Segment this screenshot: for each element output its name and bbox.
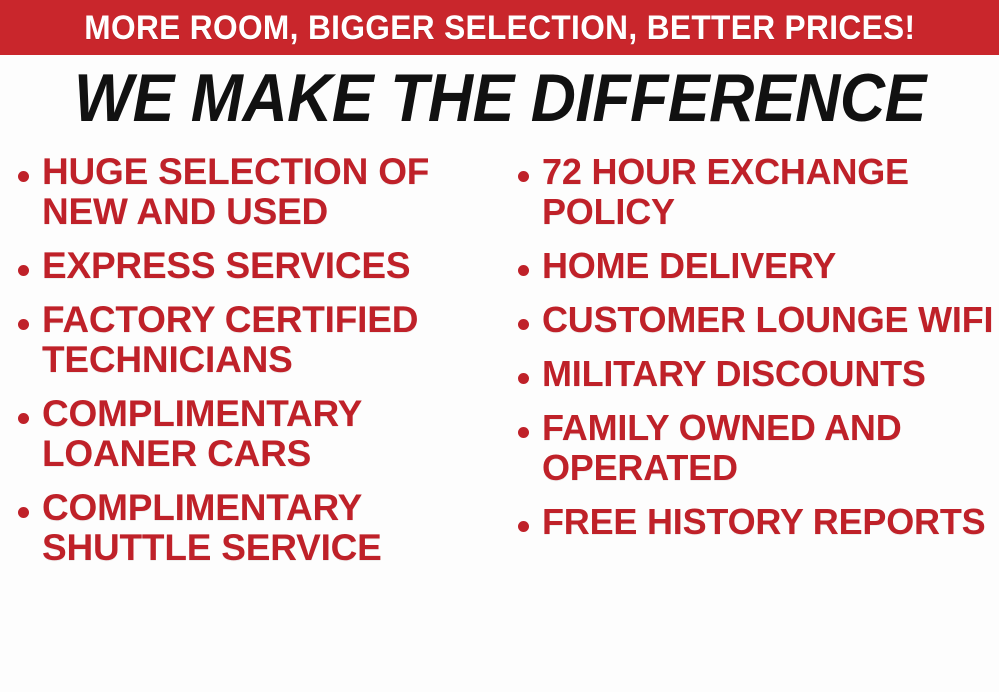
list-item-label: FACTORY CERTIFIED TECHNICIANS <box>42 300 500 380</box>
bullet-dot-icon <box>518 427 529 438</box>
bullet-dot-icon <box>518 319 529 330</box>
bullet-dot-icon <box>518 373 529 384</box>
bullet-dot-icon <box>18 265 29 276</box>
list-item: COMPLIMENTARY SHUTTLE SERVICE <box>8 488 500 568</box>
top-promo-banner: MORE ROOM, BIGGER SELECTION, BETTER PRIC… <box>0 0 999 55</box>
bullet-dot-icon <box>18 413 29 424</box>
headline-text: WE MAKE THE DIFFERENCE <box>74 62 926 134</box>
bullet-dot-icon <box>18 507 29 518</box>
list-item: HUGE SELECTION OF NEW AND USED <box>8 152 500 232</box>
list-item-label: COMPLIMENTARY LOANER CARS <box>42 394 500 474</box>
promo-banner-text: MORE ROOM, BIGGER SELECTION, BETTER PRIC… <box>84 11 915 45</box>
benefits-column-left: HUGE SELECTION OF NEW AND USED EXPRESS S… <box>8 152 500 692</box>
list-item-label: COMPLIMENTARY SHUTTLE SERVICE <box>42 488 500 568</box>
list-item: FAMILY OWNED AND OPERATED <box>506 408 999 488</box>
bullet-dot-icon <box>518 265 529 276</box>
list-item: CUSTOMER LOUNGE WIFI <box>506 300 999 340</box>
bullet-dot-icon <box>18 171 29 182</box>
list-item: MILITARY DISCOUNTS <box>506 354 999 394</box>
bullet-dot-icon <box>518 171 529 182</box>
list-item-label: HOME DELIVERY <box>542 246 999 286</box>
list-item-label: CUSTOMER LOUNGE WIFI <box>542 300 999 340</box>
bullet-dot-icon <box>18 319 29 330</box>
advertisement-banner: MORE ROOM, BIGGER SELECTION, BETTER PRIC… <box>0 0 999 692</box>
list-item: EXPRESS SERVICES <box>8 246 500 286</box>
list-item: FACTORY CERTIFIED TECHNICIANS <box>8 300 500 380</box>
list-item-label: MILITARY DISCOUNTS <box>542 354 999 394</box>
bullet-dot-icon <box>518 521 529 532</box>
list-item: HOME DELIVERY <box>506 246 999 286</box>
list-item-label: FAMILY OWNED AND OPERATED <box>542 408 999 488</box>
list-item-label: HUGE SELECTION OF NEW AND USED <box>42 152 500 232</box>
list-item-label: EXPRESS SERVICES <box>42 246 500 286</box>
benefits-column-right: 72 HOUR EXCHANGE POLICY HOME DELIVERY CU… <box>506 152 999 692</box>
list-item: COMPLIMENTARY LOANER CARS <box>8 394 500 474</box>
benefits-columns: HUGE SELECTION OF NEW AND USED EXPRESS S… <box>0 152 999 692</box>
list-item: FREE HISTORY REPORTS <box>506 502 999 542</box>
headline: WE MAKE THE DIFFERENCE <box>0 62 999 134</box>
list-item: 72 HOUR EXCHANGE POLICY <box>506 152 999 232</box>
list-item-label: FREE HISTORY REPORTS <box>542 502 999 542</box>
list-item-label: 72 HOUR EXCHANGE POLICY <box>542 152 999 232</box>
